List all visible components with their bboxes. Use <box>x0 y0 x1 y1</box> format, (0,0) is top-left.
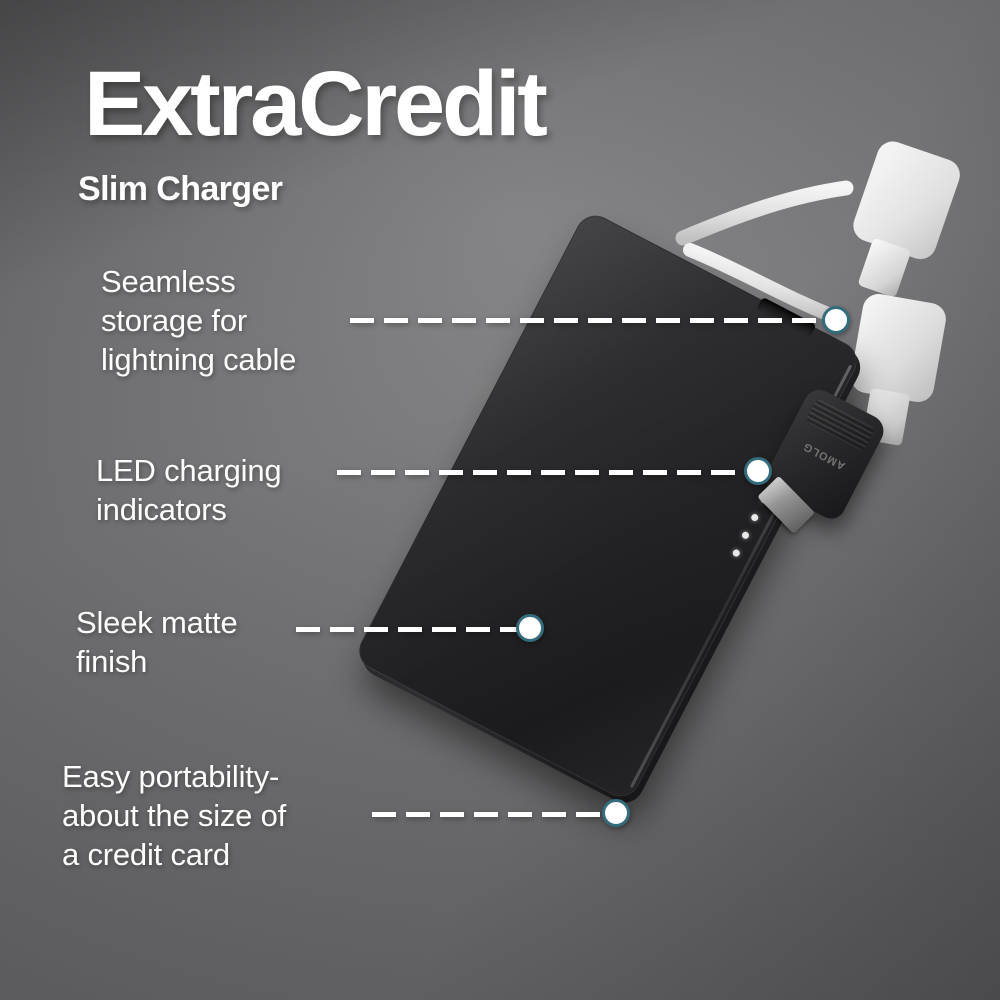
lightning-plug-lower <box>840 291 948 449</box>
callout-label-matte-finish: Sleek matte finish <box>76 603 238 681</box>
callout-dot-seamless-storage <box>822 306 850 334</box>
page-subtitle: Slim Charger <box>78 172 282 206</box>
callout-leader-line <box>296 627 534 632</box>
callout-dot-led-indicators <box>744 457 772 485</box>
led-indicator <box>750 513 759 522</box>
card-side-edge <box>356 215 867 810</box>
page-title: ExtraCredit <box>84 58 545 150</box>
connector-brand-text: AMOLG <box>790 434 858 477</box>
callout-leader-line <box>337 470 762 475</box>
callout-label-led-indicators: LED charging indicators <box>96 451 281 529</box>
connector-head: AMOLG <box>761 384 889 523</box>
connector-grip-ridges <box>805 398 876 452</box>
card-front-face <box>352 209 863 804</box>
callout-dot-matte-finish <box>516 614 544 642</box>
led-indicator <box>741 531 750 540</box>
callout-dot-portability <box>602 799 630 827</box>
led-indicator <box>732 548 741 557</box>
connector-metal-tip <box>757 476 815 534</box>
callout-label-portability: Easy portability- about the size of a cr… <box>62 757 286 874</box>
infographic-canvas: AMOLG ExtraCredit Slim Charger Seamless … <box>0 0 1000 1000</box>
callout-label-seamless-storage: Seamless storage for lightning cable <box>101 262 296 379</box>
card-edge-highlight <box>630 365 852 789</box>
lightning-plug-upper <box>835 137 964 305</box>
callout-leader-line <box>372 812 622 817</box>
callout-leader-line <box>350 318 840 323</box>
charger-card-body <box>352 209 863 804</box>
led-indicator <box>759 495 768 504</box>
card-gloss-highlight <box>353 210 864 805</box>
